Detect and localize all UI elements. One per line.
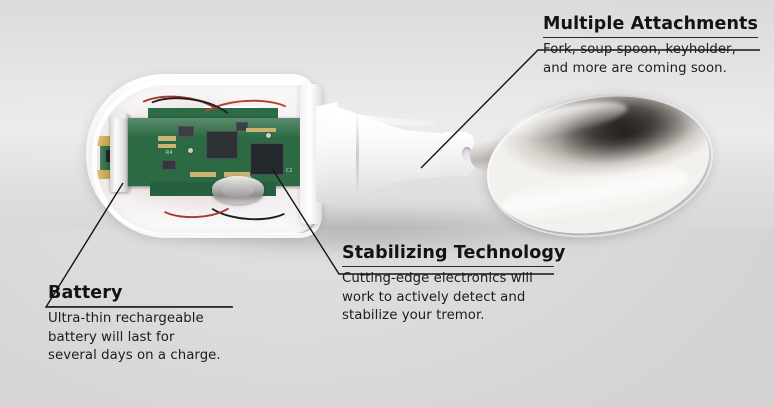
callout-body-line: work to actively detect and <box>342 289 554 308</box>
callout-battery: Battery Ultra-thin rechargeable battery … <box>48 283 234 366</box>
callout-title-battery: Battery <box>48 283 234 304</box>
callout-body-line: stabilize your tremor. <box>342 307 554 326</box>
handle-rim <box>92 80 322 238</box>
callout-body-line: several days on a charge. <box>48 347 234 366</box>
callout-multiple-attachments: Multiple Attachments Fork, soup spoon, k… <box>543 14 758 78</box>
callout-rule-attachments <box>543 37 758 38</box>
callout-stabilizing-technology: Stabilizing Technology Cutting-edge elec… <box>342 243 554 326</box>
callout-rule-battery <box>48 306 232 307</box>
callout-body-stabilizing: Cutting-edge electronics will work to ac… <box>342 270 554 326</box>
callout-rule-stabilizing <box>342 266 554 267</box>
product-annotation-image: IB5G81 R4 C2 Multiple Attachments <box>0 0 774 407</box>
callout-body-line: battery will last for <box>48 329 234 348</box>
neck-seam <box>356 112 359 198</box>
callout-body-line: Ultra-thin rechargeable <box>48 310 234 329</box>
callout-body-line: Fork, soup spoon, keyholder, <box>543 41 758 60</box>
spoon-rim <box>476 79 723 253</box>
callout-body-attachments: Fork, soup spoon, keyholder, and more ar… <box>543 41 758 78</box>
callout-body-battery: Ultra-thin rechargeable battery will las… <box>48 310 234 366</box>
callout-body-line: and more are coming soon. <box>543 60 758 79</box>
callout-body-line: Cutting-edge electronics will <box>342 270 554 289</box>
callout-title-attachments: Multiple Attachments <box>543 14 758 35</box>
callout-title-stabilizing: Stabilizing Technology <box>342 243 554 264</box>
